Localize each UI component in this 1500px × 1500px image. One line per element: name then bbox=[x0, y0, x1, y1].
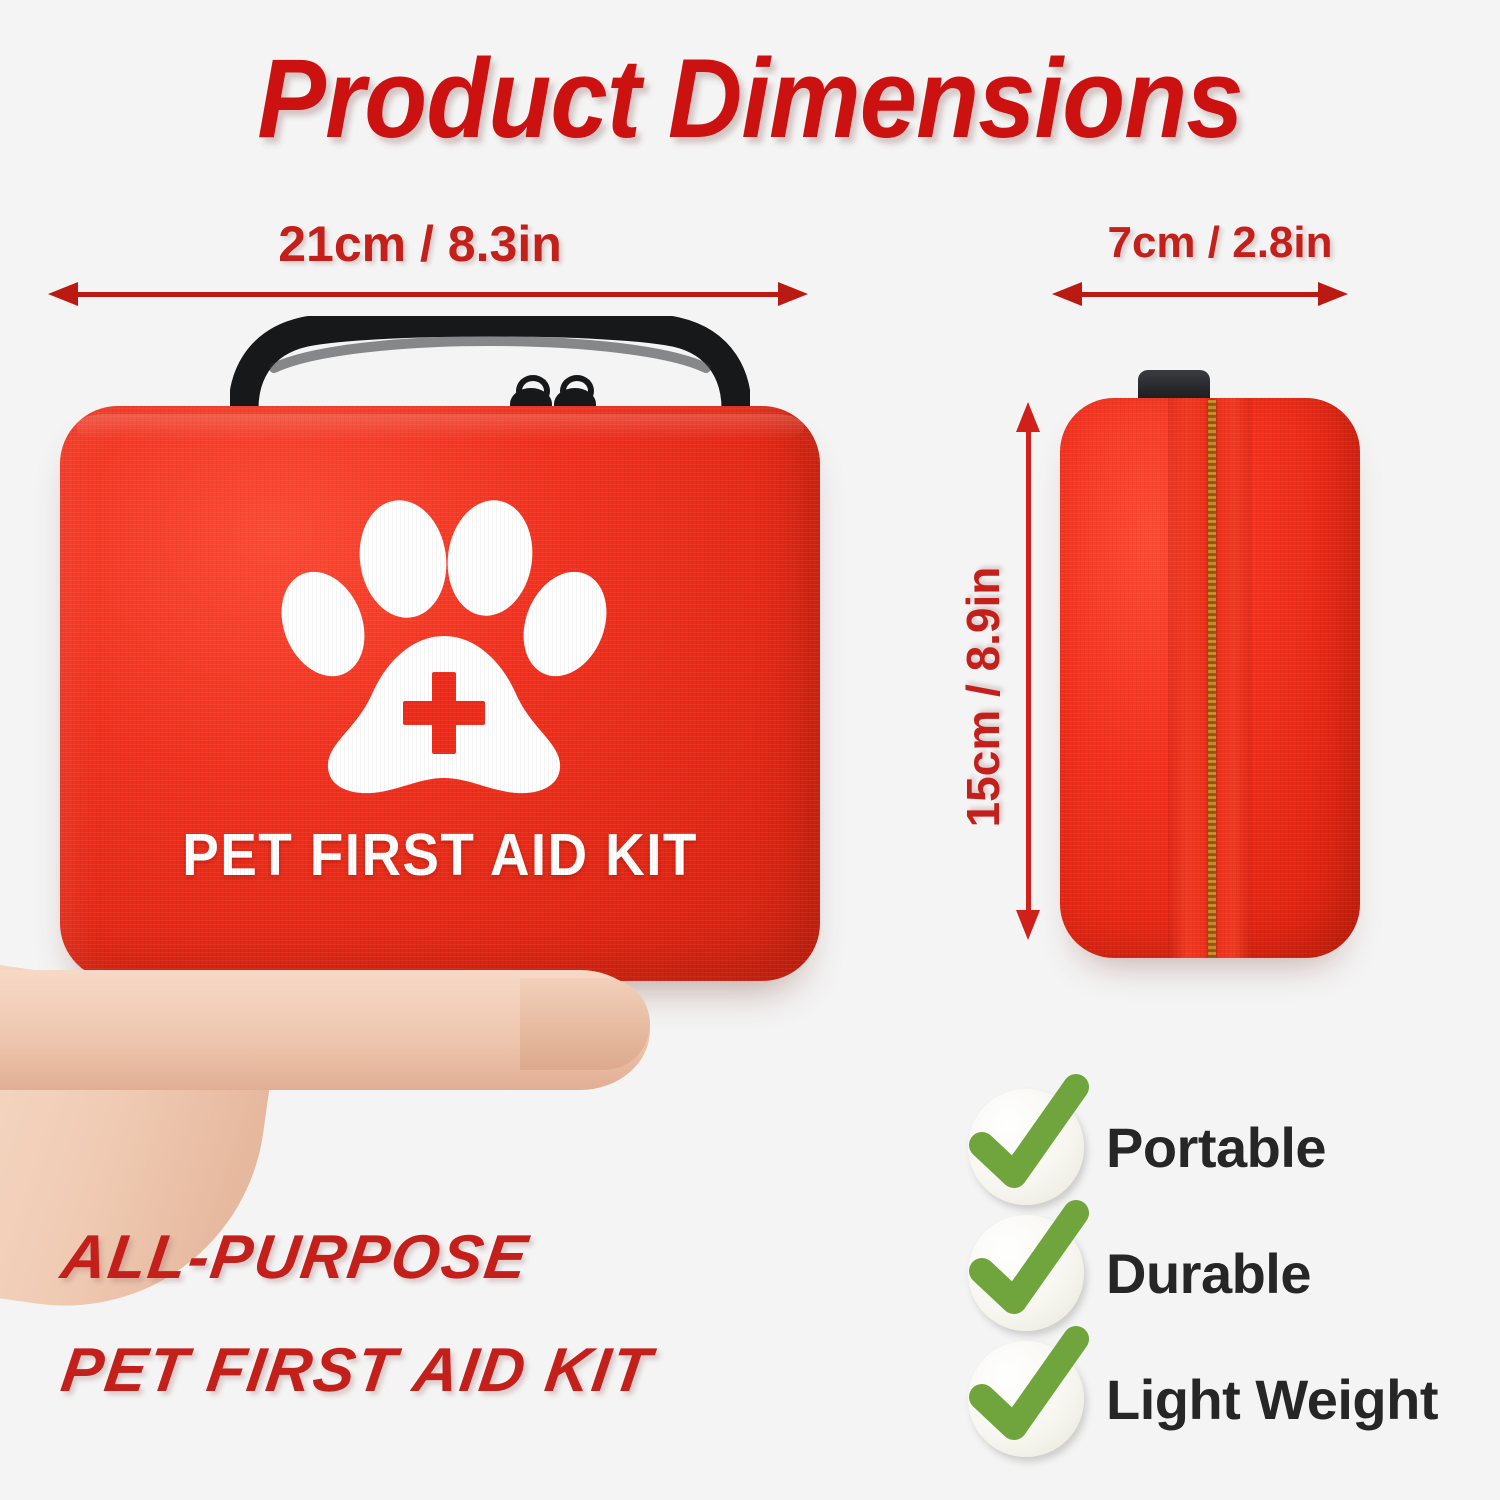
check-icon bbox=[972, 1083, 1090, 1201]
check-icon bbox=[972, 1335, 1090, 1453]
check-badge bbox=[968, 1089, 1084, 1205]
feature-label: Portable bbox=[1106, 1115, 1326, 1180]
case-body: PET FIRST AID KIT bbox=[60, 406, 820, 981]
side-case-body bbox=[1060, 398, 1360, 958]
arrow-head-right-icon bbox=[1318, 282, 1348, 306]
depth-dimension-arrow bbox=[1052, 282, 1348, 306]
infographic-canvas: Product Dimensions 21cm / 8.3in 7cm / 2.… bbox=[0, 0, 1500, 1500]
feature-item: Light Weight bbox=[968, 1340, 1500, 1458]
check-badge bbox=[968, 1215, 1084, 1331]
feature-list: Portable Durable Light Weight bbox=[968, 1088, 1500, 1488]
page-title: Product Dimensions bbox=[60, 34, 1440, 163]
zipper-tape bbox=[1168, 398, 1252, 958]
arrow-head-down-icon bbox=[1016, 910, 1040, 940]
paw-print-logo-icon bbox=[278, 494, 608, 794]
product-brand-text: PET FIRST AID KIT bbox=[87, 821, 794, 889]
paw-main-pad-icon bbox=[326, 636, 562, 796]
feature-label: Light Weight bbox=[1106, 1367, 1438, 1432]
paw-toe-icon bbox=[352, 495, 454, 624]
feature-item: Portable bbox=[968, 1088, 1500, 1206]
zipper-teeth-icon bbox=[1208, 400, 1216, 958]
fingers bbox=[520, 978, 650, 1070]
arrow-shaft bbox=[1026, 416, 1031, 926]
check-icon bbox=[972, 1209, 1090, 1327]
height-dimension-label: 15cm / 8.9in bbox=[956, 537, 1010, 857]
check-badge bbox=[968, 1341, 1084, 1457]
depth-dimension-label: 7cm / 2.8in bbox=[1020, 218, 1420, 268]
product-side-view bbox=[1060, 370, 1380, 970]
tagline-line-2: PET FIRST AID KIT bbox=[57, 1335, 907, 1406]
feature-item: Durable bbox=[968, 1214, 1500, 1332]
feature-label: Durable bbox=[1106, 1241, 1311, 1306]
paw-toe-icon bbox=[440, 495, 539, 622]
arrow-shaft bbox=[62, 292, 794, 297]
arrow-shaft bbox=[1066, 292, 1334, 297]
width-dimension-label: 21cm / 8.3in bbox=[0, 215, 840, 273]
medical-cross-icon bbox=[403, 672, 485, 754]
case-top-seam bbox=[76, 414, 804, 440]
height-dimension-arrow bbox=[1016, 402, 1040, 940]
tagline-line-1: ALL-PURPOSE bbox=[57, 1222, 907, 1293]
tagline: ALL-PURPOSE PET FIRST AID KIT bbox=[62, 1222, 902, 1406]
product-front-view: PET FIRST AID KIT bbox=[40, 300, 840, 1020]
